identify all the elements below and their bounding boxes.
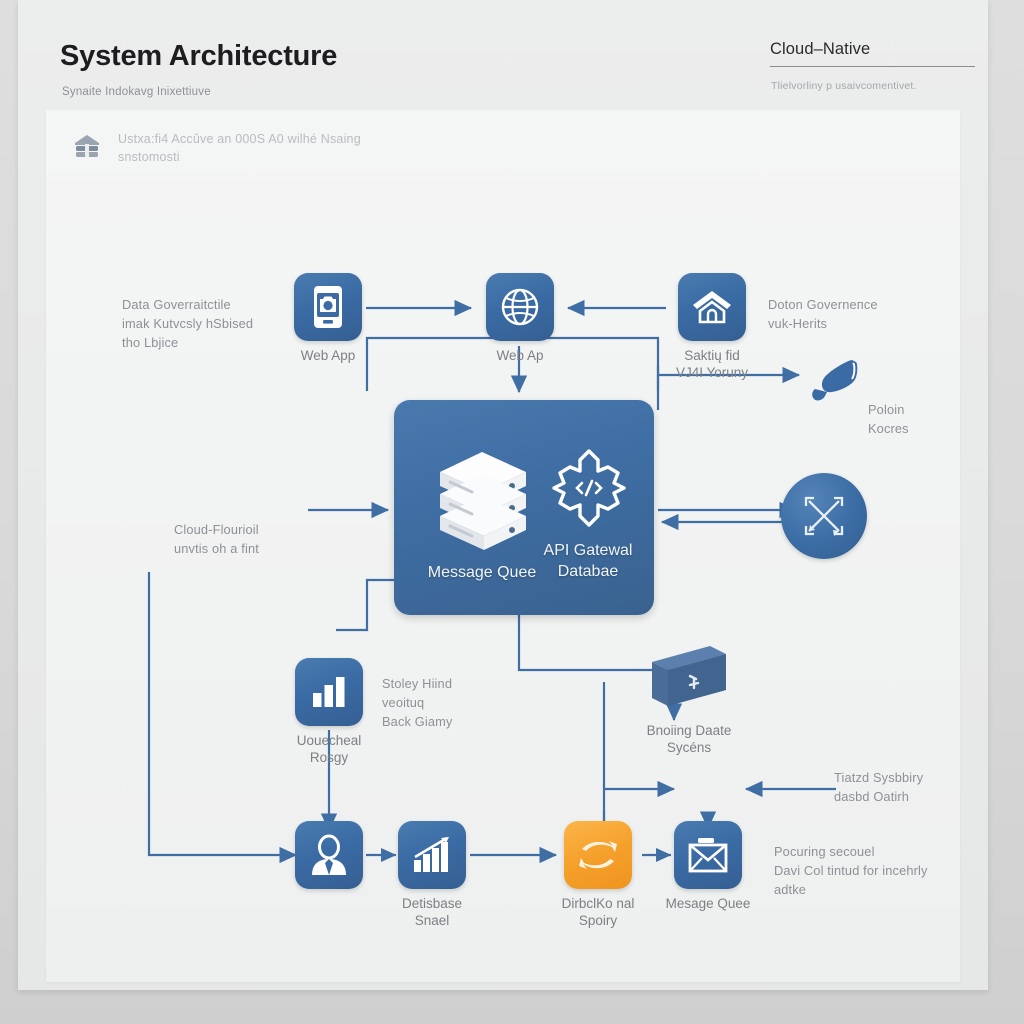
- node-label: Bnoiing Daate Sycéns: [614, 722, 764, 756]
- growth-chart-icon: [398, 821, 466, 889]
- document-sheet: System Architecture Synaite Indokavg Ini…: [18, 0, 988, 990]
- server-box-3d-icon: [646, 640, 732, 718]
- annotation-bottom-right: Pocuring secouel Davi Col tintud for inc…: [774, 842, 974, 899]
- annotation-top-left: Data Goverraitctile imak Kutvcsly hSbise…: [122, 295, 307, 352]
- node-growth[interactable]: Detisbase Snael: [398, 821, 466, 889]
- annotation-mid-left: Cloud-Flourioil unvtis oh a fint: [174, 520, 354, 558]
- annotation-storage: Tiatzd Sysbbiry dasbd Oatirh: [834, 768, 923, 806]
- node-label: Uouecheal Rosgy: [254, 732, 404, 766]
- document-header: System Architecture Synaite Indokavg Ini…: [18, 0, 988, 108]
- node-label: Saktių fid VJ4I Yoruny: [637, 347, 787, 381]
- core-services-panel[interactable]: Message Quee API Gatewal Databae: [394, 400, 654, 615]
- diagram-canvas: Ustxa:fi4 Accûve an 000S A0 wilhé Nsaing…: [46, 110, 960, 982]
- page-title: System Architecture: [60, 40, 337, 73]
- expand-arrows-icon: [781, 473, 867, 559]
- node-label: Detisbase Snael: [357, 895, 507, 929]
- node-storage-box[interactable]: Bnoiing Daate Sycéns: [646, 640, 732, 723]
- annotation-megaphone: Poloin Kocres: [868, 400, 909, 438]
- annotation-analytics: Stoley Hiind veoituq Back Giamy: [382, 674, 452, 731]
- node-sync[interactable]: DirbclKo nal Spoiry: [564, 821, 632, 889]
- node-megaphone[interactable]: [806, 358, 862, 409]
- panel-right-label: API Gatewal Databae: [498, 540, 678, 582]
- brand-divider: [770, 66, 975, 67]
- globe-icon: [486, 273, 554, 341]
- bar-chart-icon: [295, 658, 363, 726]
- user-profile-icon: [295, 821, 363, 889]
- node-label: Mesage Quee: [633, 895, 783, 912]
- megaphone-icon: [806, 358, 862, 404]
- node-user[interactable]: [295, 821, 363, 889]
- annotation-top-right: Doton Governeпce vuk-Herits: [768, 295, 958, 333]
- screenshot-root: System Architecture Synaite Indokavg Ini…: [0, 0, 1024, 1024]
- network-node-icon: [546, 445, 632, 538]
- node-home-service[interactable]: Saktių fid VJ4I Yoruny: [678, 273, 746, 341]
- node-label: Web Ap: [445, 347, 595, 364]
- node-web-gateway[interactable]: Web Ap: [486, 273, 554, 341]
- node-message-queue[interactable]: Mesage Quee: [674, 821, 742, 889]
- brand-subtitle: Tlielvorliny p usaivcomentivet.: [771, 80, 917, 92]
- envelope-icon: [674, 821, 742, 889]
- page-subtitle: Synaite Indokavg Inixettiuve: [62, 86, 211, 98]
- brand-label: Cloud–Native: [770, 40, 870, 59]
- home-cloud-icon: [678, 273, 746, 341]
- sync-arrows-icon: [564, 821, 632, 889]
- node-analytics[interactable]: Uouecheal Rosgy: [295, 658, 363, 726]
- node-scale-circle[interactable]: [781, 473, 867, 559]
